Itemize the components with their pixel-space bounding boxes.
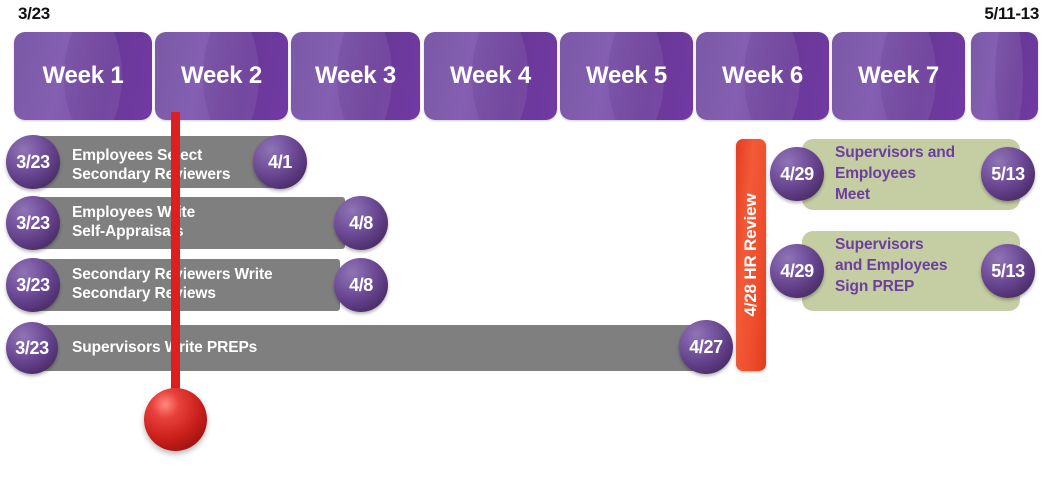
week-block-partial[interactable]: [971, 32, 1038, 120]
timeline-end-date: 5/11-13: [984, 4, 1039, 24]
milestone-label-supervisors-and-employees-sign-prep: Supervisors and Employees Sign PREP: [835, 234, 947, 297]
task-end-date-badge[interactable]: 4/8: [334, 258, 388, 312]
task-end-date-badge[interactable]: 4/1: [253, 135, 307, 189]
task-start-date-badge[interactable]: 3/23: [6, 196, 60, 250]
current-position-line: [171, 112, 180, 408]
week-block-6[interactable]: Week 6: [696, 32, 829, 120]
task-end-date-badge[interactable]: 4/8: [334, 196, 388, 250]
task-end-date-badge[interactable]: 4/27: [679, 320, 733, 374]
hr-review-bar[interactable]: 4/28 HR Review: [736, 139, 766, 371]
week-block-label: Week 4: [424, 32, 557, 120]
week-block-label: Week 2: [155, 32, 288, 120]
milestone-start-date-badge[interactable]: 4/29: [770, 147, 824, 201]
hr-review-label: 4/28 HR Review: [736, 139, 766, 371]
milestone-end-date-badge[interactable]: 5/13: [981, 244, 1035, 298]
we-are-here-arc-label: We Are Here: [96, 382, 356, 492]
timeline-start-date: 3/23: [18, 4, 50, 24]
task-label-employees-select-secondary-reviewers: Employees Select Secondary Reviewers: [72, 146, 230, 184]
week-block-label: Week 6: [696, 32, 829, 120]
task-label-supervisors-write-preps: Supervisors Write PREPs: [72, 338, 257, 357]
week-block-1[interactable]: Week 1: [14, 32, 152, 120]
week-block-label: [971, 32, 1038, 120]
task-start-date-badge[interactable]: 3/23: [6, 322, 58, 374]
task-start-date-badge[interactable]: 3/23: [6, 258, 60, 312]
milestone-label-supervisors-and-employees-meet: Supervisors and Employees Meet: [835, 142, 955, 205]
week-block-2[interactable]: Week 2: [155, 32, 288, 120]
week-block-label: Week 3: [291, 32, 420, 120]
week-block-label: Week 5: [560, 32, 693, 120]
task-start-date-badge[interactable]: 3/23: [6, 135, 60, 189]
week-block-7[interactable]: Week 7: [832, 32, 965, 120]
milestone-end-date-badge[interactable]: 5/13: [981, 147, 1035, 201]
week-block-5[interactable]: Week 5: [560, 32, 693, 120]
week-block-3[interactable]: Week 3: [291, 32, 420, 120]
week-block-label: Week 1: [14, 32, 152, 120]
milestone-start-date-badge[interactable]: 4/29: [770, 244, 824, 298]
week-block-label: Week 7: [832, 32, 965, 120]
timeline-diagram: 3/23 5/11-13 Week 1Week 2Week 3Week 4Wee…: [0, 0, 1051, 490]
week-header-row: Week 1Week 2Week 3Week 4Week 5Week 6Week…: [0, 32, 1051, 120]
week-block-4[interactable]: Week 4: [424, 32, 557, 120]
